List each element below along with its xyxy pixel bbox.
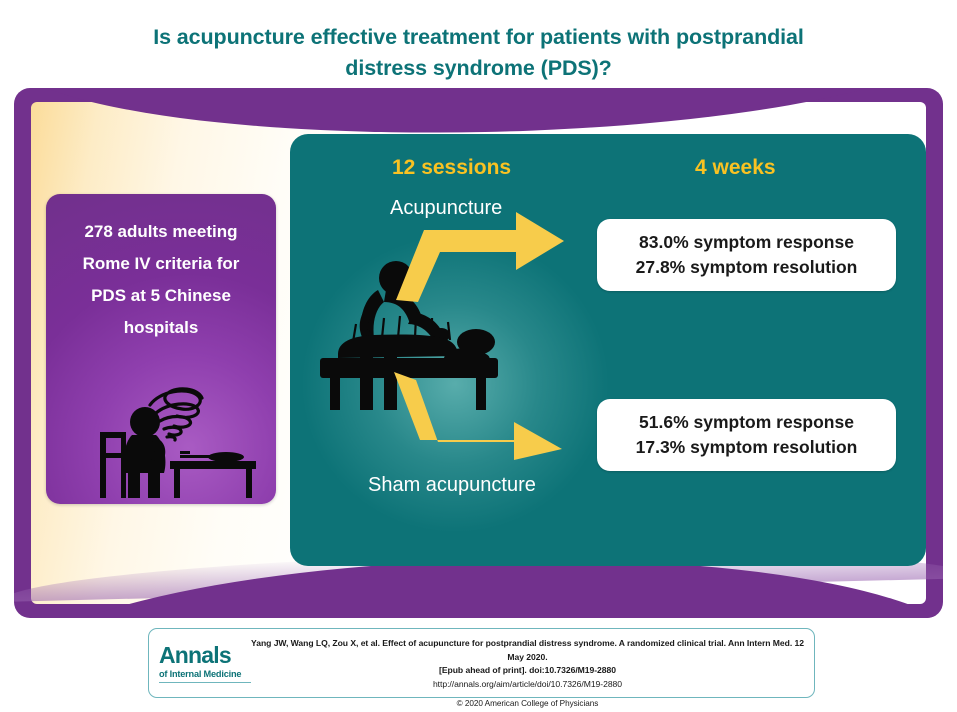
page-title-line-1: Is acupuncture effective treatment for p…	[0, 22, 957, 53]
citation-line-2: [Epub ahead of print]. doi:10.7326/M19-2…	[245, 664, 810, 678]
study-population-text: 278 adults meeting Rome IV criteria for …	[46, 216, 276, 344]
citation-copyright: © 2020 American College of Physicians	[245, 697, 810, 711]
page-title: Is acupuncture effective treatment for p…	[0, 22, 957, 84]
annals-logo-subtitle: of Internal Medicine	[159, 668, 251, 680]
result-sham-resolution: 17.3% symptom resolution	[636, 435, 858, 460]
study-population-line-3: PDS at 5 Chinese	[46, 280, 276, 312]
result-acupuncture-resolution: 27.8% symptom resolution	[636, 255, 858, 280]
result-box-sham-acupuncture: 51.6% symptom response 17.3% symptom res…	[597, 399, 896, 471]
study-population-card: 278 adults meeting Rome IV criteria for …	[46, 194, 276, 504]
arm-label-sham-acupuncture: Sham acupuncture	[368, 474, 536, 497]
study-population-line-2: Rome IV criteria for	[46, 248, 276, 280]
result-sham-response: 51.6% symptom response	[639, 410, 854, 435]
page-title-line-2: distress syndrome (PDS)?	[0, 53, 957, 84]
annals-logo: Annals of Internal Medicine	[159, 643, 251, 683]
result-box-acupuncture: 83.0% symptom response 27.8% symptom res…	[597, 219, 896, 291]
annals-logo-name: Annals	[159, 643, 251, 667]
study-population-line-1: 278 adults meeting	[46, 216, 276, 248]
followup-duration-label: 4 weeks	[695, 156, 776, 180]
person-at-table-with-distress-scribble-icon	[64, 375, 259, 500]
study-design-panel: 12 sessions 4 weeks Acupuncture Sham acu…	[290, 134, 926, 566]
arrow-right-down-icon	[386, 370, 576, 462]
citation-box: Annals of Internal Medicine Yang JW, Wan…	[148, 628, 815, 698]
intervention-duration-label: 12 sessions	[392, 156, 511, 180]
citation-text: Yang JW, Wang LQ, Zou X, et al. Effect o…	[245, 637, 810, 711]
citation-url[interactable]: http://annals.org/aim/article/doi/10.732…	[245, 678, 810, 692]
citation-line-1: Yang JW, Wang LQ, Zou X, et al. Effect o…	[245, 637, 810, 664]
arrow-right-up-icon	[386, 210, 576, 302]
study-population-line-4: hospitals	[46, 312, 276, 344]
result-acupuncture-response: 83.0% symptom response	[639, 230, 854, 255]
annals-logo-rule	[159, 682, 251, 683]
